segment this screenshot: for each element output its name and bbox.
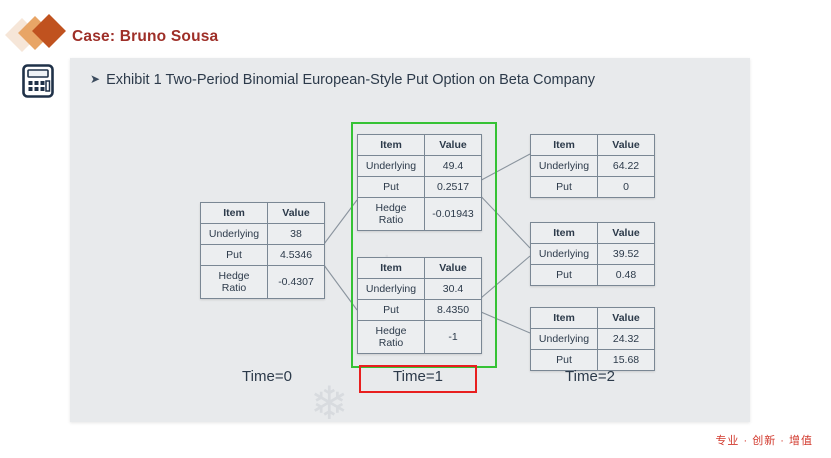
value-hedge-ratio: -0.01943 bbox=[425, 198, 482, 231]
column-header-value: Value bbox=[425, 258, 482, 279]
node-table-time2-c: Item Value Underlying 24.32 Put 15.68 bbox=[530, 307, 655, 371]
row-label-hedge-ratio: Hedge Ratio bbox=[201, 266, 268, 299]
value-put: 0 bbox=[598, 177, 655, 198]
table-row: Underlying 38 bbox=[201, 224, 325, 245]
row-label-put: Put bbox=[531, 265, 598, 286]
column-header-item: Item bbox=[531, 223, 598, 244]
table-row: Item Value bbox=[358, 135, 482, 156]
column-header-item: Item bbox=[358, 258, 425, 279]
table-row: Underlying 49.4 bbox=[358, 156, 482, 177]
column-header-item: Item bbox=[358, 135, 425, 156]
diamonds-logo-icon bbox=[10, 18, 66, 52]
page-title: Case: Bruno Sousa bbox=[72, 28, 218, 46]
column-header-item: Item bbox=[531, 308, 598, 329]
row-label-underlying: Underlying bbox=[201, 224, 268, 245]
binomial-tree-diagram: ❄ ❄ Item Value Underlying 38 Put 4.5346 … bbox=[70, 58, 750, 422]
table-row: Item Value bbox=[201, 203, 325, 224]
hedge-label-line1: Hedge bbox=[376, 325, 407, 337]
table-row: Put 4.5346 bbox=[201, 245, 325, 266]
row-label-underlying: Underlying bbox=[531, 244, 598, 265]
node-table-time0: Item Value Underlying 38 Put 4.5346 Hedg… bbox=[200, 202, 325, 299]
value-hedge-ratio: -1 bbox=[425, 321, 482, 354]
table-row: Underlying 39.52 bbox=[531, 244, 655, 265]
node-table-time2-a: Item Value Underlying 64.22 Put 0 bbox=[530, 134, 655, 198]
value-put: 0.48 bbox=[598, 265, 655, 286]
value-underlying: 64.22 bbox=[598, 156, 655, 177]
column-header-value: Value bbox=[598, 135, 655, 156]
hedge-label-line2: Ratio bbox=[379, 214, 404, 226]
value-put: 4.5346 bbox=[268, 245, 325, 266]
row-label-underlying: Underlying bbox=[531, 156, 598, 177]
table-row: Item Value bbox=[531, 308, 655, 329]
row-label-put: Put bbox=[358, 300, 425, 321]
value-put: 8.4350 bbox=[425, 300, 482, 321]
calculator-icon bbox=[22, 64, 54, 98]
row-label-hedge-ratio: Hedge Ratio bbox=[358, 321, 425, 354]
column-header-value: Value bbox=[598, 223, 655, 244]
hedge-label-line1: Hedge bbox=[219, 270, 250, 282]
table-row: Hedge Ratio -0.01943 bbox=[358, 198, 482, 231]
row-label-underlying: Underlying bbox=[358, 156, 425, 177]
node-table-time2-b: Item Value Underlying 39.52 Put 0.48 bbox=[530, 222, 655, 286]
table-row: Underlying 30.4 bbox=[358, 279, 482, 300]
table-row: Underlying 24.32 bbox=[531, 329, 655, 350]
row-label-hedge-ratio: Hedge Ratio bbox=[358, 198, 425, 231]
column-header-item: Item bbox=[201, 203, 268, 224]
value-hedge-ratio: -0.4307 bbox=[268, 266, 325, 299]
table-row: Underlying 64.22 bbox=[531, 156, 655, 177]
content-panel: ➤Exhibit 1 Two-Period Binomial European-… bbox=[70, 58, 750, 422]
table-row: Item Value bbox=[531, 223, 655, 244]
hedge-label-line2: Ratio bbox=[222, 282, 247, 294]
row-label-underlying: Underlying bbox=[531, 329, 598, 350]
footer-slogan: 专业 · 创新 · 增值 bbox=[715, 432, 813, 448]
hedge-label-line1: Hedge bbox=[376, 202, 407, 214]
table-row: Item Value bbox=[358, 258, 482, 279]
value-underlying: 30.4 bbox=[425, 279, 482, 300]
table-row: Put 0 bbox=[531, 177, 655, 198]
value-underlying: 24.32 bbox=[598, 329, 655, 350]
table-row: Hedge Ratio -1 bbox=[358, 321, 482, 354]
value-put: 0.2517 bbox=[425, 177, 482, 198]
row-label-put: Put bbox=[531, 177, 598, 198]
value-underlying: 49.4 bbox=[425, 156, 482, 177]
time-label-0: Time=0 bbox=[212, 368, 322, 385]
value-underlying: 38 bbox=[268, 224, 325, 245]
table-row: Put 0.48 bbox=[531, 265, 655, 286]
table-row: Put 0.2517 bbox=[358, 177, 482, 198]
row-label-put: Put bbox=[358, 177, 425, 198]
column-header-value: Value bbox=[268, 203, 325, 224]
table-row: Item Value bbox=[531, 135, 655, 156]
time-label-1: Time=1 bbox=[360, 368, 476, 385]
row-label-underlying: Underlying bbox=[358, 279, 425, 300]
value-underlying: 39.52 bbox=[598, 244, 655, 265]
time-label-2: Time=2 bbox=[530, 368, 650, 385]
column-header-value: Value bbox=[598, 308, 655, 329]
table-row: Hedge Ratio -0.4307 bbox=[201, 266, 325, 299]
node-table-time1-up: Item Value Underlying 49.4 Put 0.2517 He… bbox=[357, 134, 482, 231]
column-header-value: Value bbox=[425, 135, 482, 156]
row-label-put: Put bbox=[201, 245, 268, 266]
column-header-item: Item bbox=[531, 135, 598, 156]
hedge-label-line2: Ratio bbox=[379, 337, 404, 349]
node-table-time1-down: Item Value Underlying 30.4 Put 8.4350 He… bbox=[357, 257, 482, 354]
table-row: Put 8.4350 bbox=[358, 300, 482, 321]
